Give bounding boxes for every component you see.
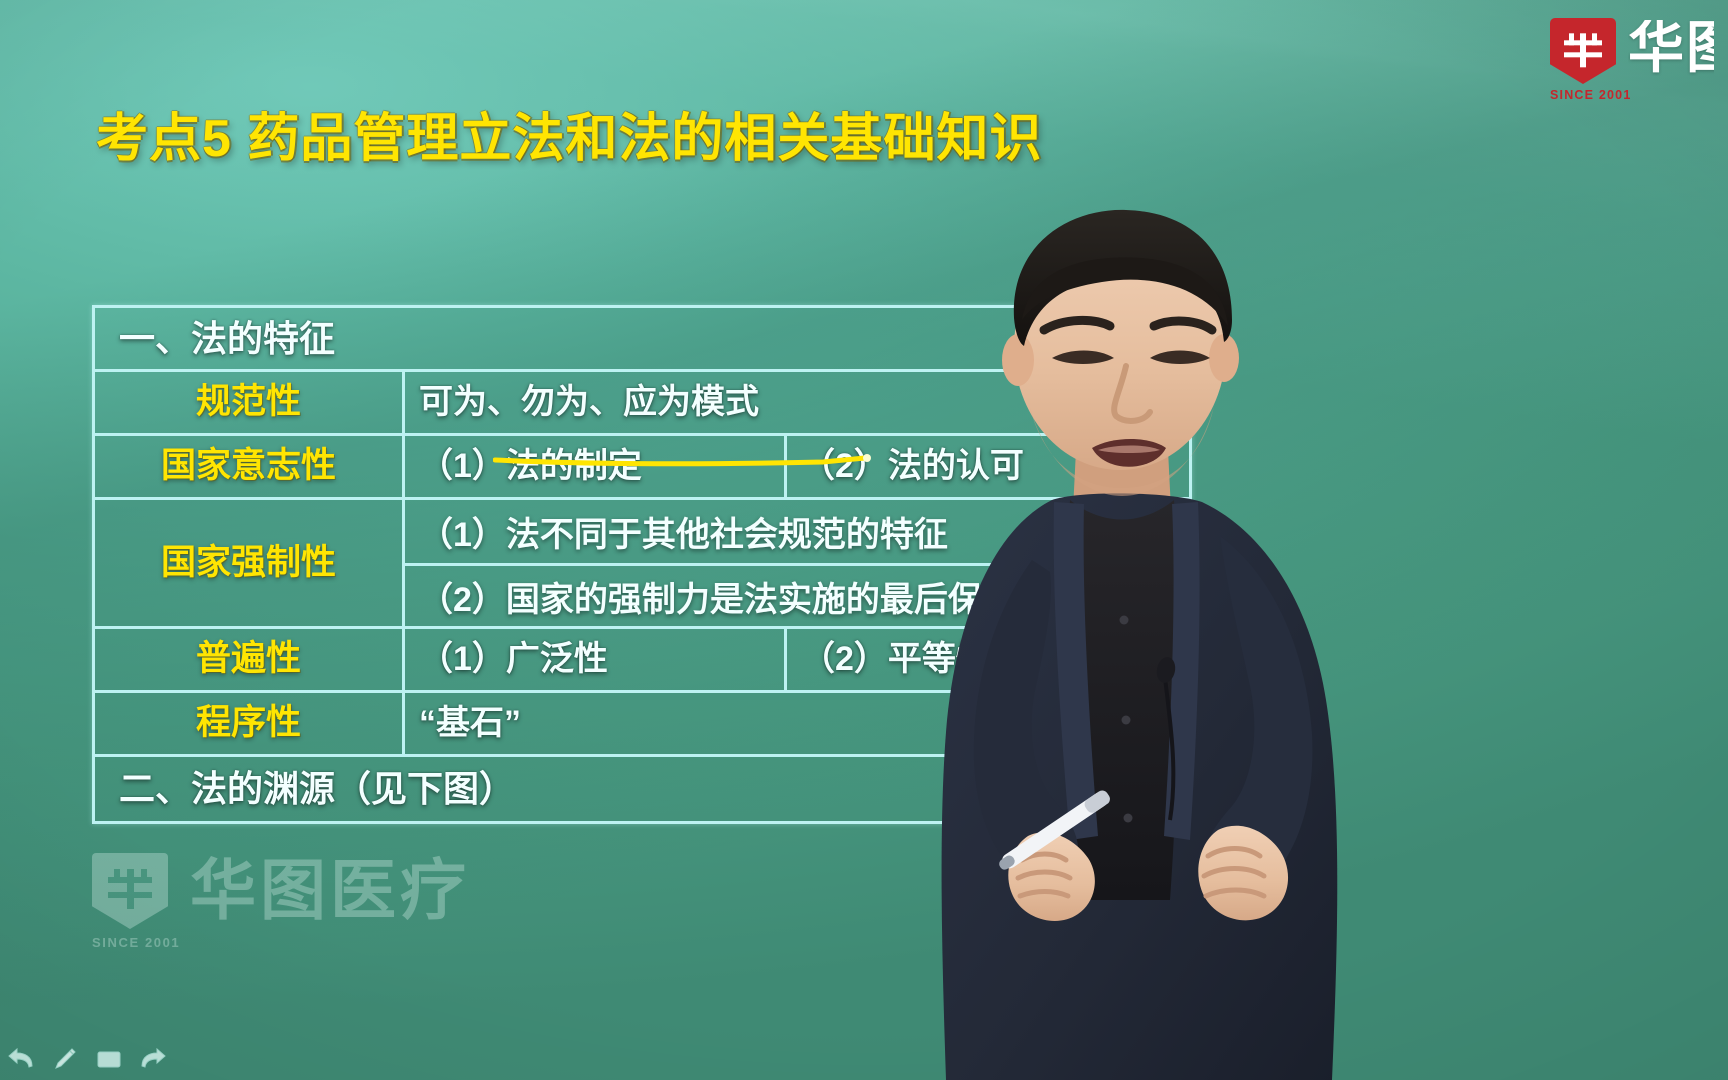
slide-title: 考点5 药品管理立法和法的相关基础知识 — [96, 96, 1042, 171]
watermark-since-label: SINCE 2001 — [92, 935, 168, 950]
row-label-chengxuxing: 程序性 — [95, 693, 405, 754]
row-label-guifanxing: 规范性 — [95, 372, 405, 433]
row-value-guojiayizhixing-1: （1）法的制定 — [405, 436, 787, 497]
brand-shield-group: SINCE 2001 — [1550, 18, 1616, 102]
brand-since-label: SINCE 2001 — [1550, 88, 1616, 102]
row-label-guojiaqiangzhixing: 国家强制性 — [95, 500, 405, 626]
pen-icon[interactable] — [50, 1044, 80, 1074]
video-player-stage: SINCE 2001 华图 考点5 药品管理立法和法的相关基础知识 一、法的特征… — [0, 0, 1728, 1080]
undo-arrow-icon[interactable] — [6, 1044, 36, 1074]
brand-wordmark: 华图 — [1628, 20, 1714, 76]
presenter-person — [902, 200, 1542, 1080]
eraser-icon[interactable] — [94, 1044, 124, 1074]
watermark-wordmark: 华图医疗 — [190, 857, 470, 923]
brand-logo: SINCE 2001 华图 — [1550, 18, 1714, 102]
row-value-pubianxing-1: （1）广泛性 — [405, 629, 787, 690]
watermark-shield-group: SINCE 2001 — [92, 853, 168, 950]
watermark-logo: SINCE 2001 华图医疗 — [92, 853, 470, 950]
redo-arrow-icon[interactable] — [138, 1044, 168, 1074]
huatu-shield-watermark-icon — [92, 853, 168, 929]
row-label-guojiayizhixing: 国家意志性 — [95, 436, 405, 497]
huatu-shield-icon — [1550, 18, 1616, 84]
row-label-pubianxing: 普遍性 — [95, 629, 405, 690]
annotation-toolbar[interactable] — [6, 1044, 168, 1074]
